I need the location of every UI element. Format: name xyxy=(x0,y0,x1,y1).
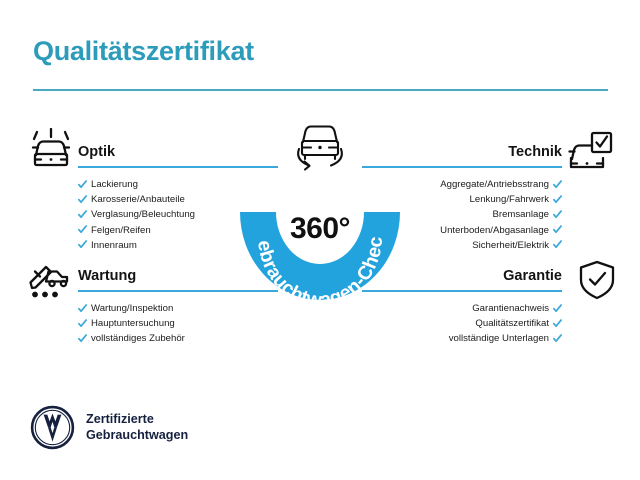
list-item-label: Bremsanlage xyxy=(492,207,549,222)
car-shine-icon xyxy=(28,128,74,172)
page-title: Qualitätszertifikat xyxy=(33,36,254,67)
check-icon xyxy=(78,304,87,313)
check-icon xyxy=(78,195,87,204)
list-item-label: Verglasung/Beleuchtung xyxy=(91,207,195,222)
list-item-label: Innenraum xyxy=(91,238,137,253)
check-icon xyxy=(78,240,87,249)
check-icon xyxy=(78,210,87,219)
check-icon xyxy=(553,240,562,249)
footer-brand-text: Zertifizierte Gebrauchtwagen xyxy=(86,412,188,443)
list-item-label: Hauptuntersuchung xyxy=(91,316,175,331)
check-icon xyxy=(78,334,87,343)
check-icon xyxy=(553,319,562,328)
footer-brand: Zertifizierte Gebrauchtwagen xyxy=(30,405,188,450)
car-checkbox-icon xyxy=(568,130,614,174)
car-service-pen-icon xyxy=(26,258,72,302)
shield-check-icon xyxy=(574,258,620,302)
list-item: vollständiges Zubehör xyxy=(78,331,278,346)
list-item-label: vollständiges Zubehör xyxy=(91,331,185,346)
title-divider xyxy=(33,89,608,91)
check-icon xyxy=(78,319,87,328)
check-icon xyxy=(553,334,562,343)
list-item-label: Garantienachweis xyxy=(472,301,549,316)
vw-logo xyxy=(30,405,75,450)
badge-center-label: 360° xyxy=(228,212,412,246)
check-icon xyxy=(553,225,562,234)
list-item-label: Sicherheit/Elektrik xyxy=(472,238,549,253)
car-rotate-icon xyxy=(285,118,355,174)
check-icon xyxy=(553,180,562,189)
list-item-label: Karosserie/Anbauteile xyxy=(91,192,185,207)
check-icon xyxy=(78,180,87,189)
list-item: vollständige Unterlagen xyxy=(362,331,562,346)
list-item-label: Lenkung/Fahrwerk xyxy=(470,192,549,207)
list-item-label: Aggregate/Antriebsstrang xyxy=(440,177,549,192)
check-icon xyxy=(553,210,562,219)
list-item-label: Lackierung xyxy=(91,177,138,192)
list-item-label: vollständige Unterlagen xyxy=(449,331,549,346)
list-item-label: Wartung/Inspektion xyxy=(91,301,173,316)
list-item-label: Felgen/Reifen xyxy=(91,223,151,238)
check-icon xyxy=(78,225,87,234)
check-icon xyxy=(553,304,562,313)
list-item-label: Unterboden/Abgasanlage xyxy=(440,223,549,238)
check-icon xyxy=(553,195,562,204)
list-item-label: Qualitätszertifikat xyxy=(475,316,549,331)
